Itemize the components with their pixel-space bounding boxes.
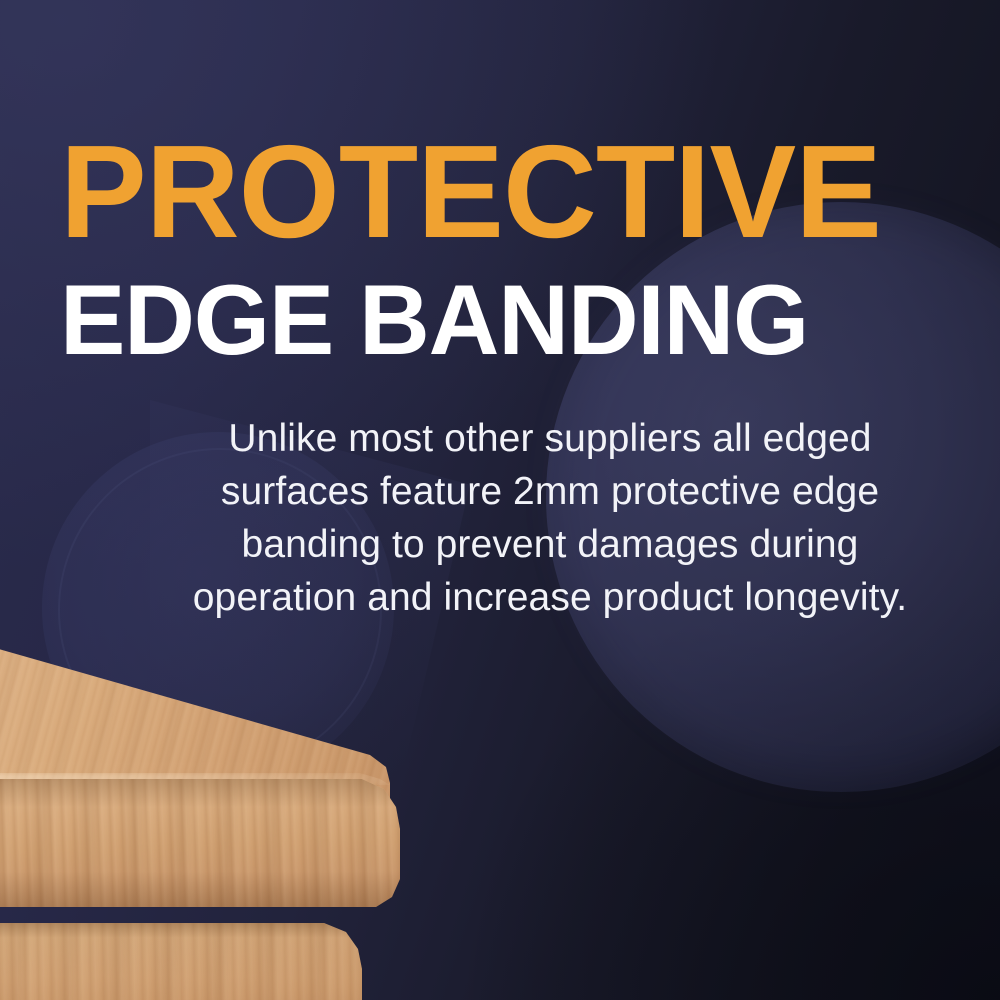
body-line-2: surfaces feature 2mm protective edge: [110, 465, 990, 518]
wood-lower-panel: [0, 923, 368, 1000]
poster-canvas: PROTECTIVE EDGE BANDING Unlike most othe…: [0, 0, 1000, 1000]
body-line-1: Unlike most other suppliers all edged: [110, 412, 990, 465]
headline-secondary: EDGE BANDING: [60, 270, 808, 369]
headline-primary: PROTECTIVE: [60, 126, 881, 258]
wood-panel-illustration: [0, 545, 430, 1000]
wood-top-surface: [0, 545, 402, 803]
wood-lower-shadow: [0, 923, 368, 1000]
wood-top-grain: [0, 545, 402, 803]
wood-front-shadow: [0, 779, 404, 907]
wood-front-edge-banding: [0, 779, 404, 907]
